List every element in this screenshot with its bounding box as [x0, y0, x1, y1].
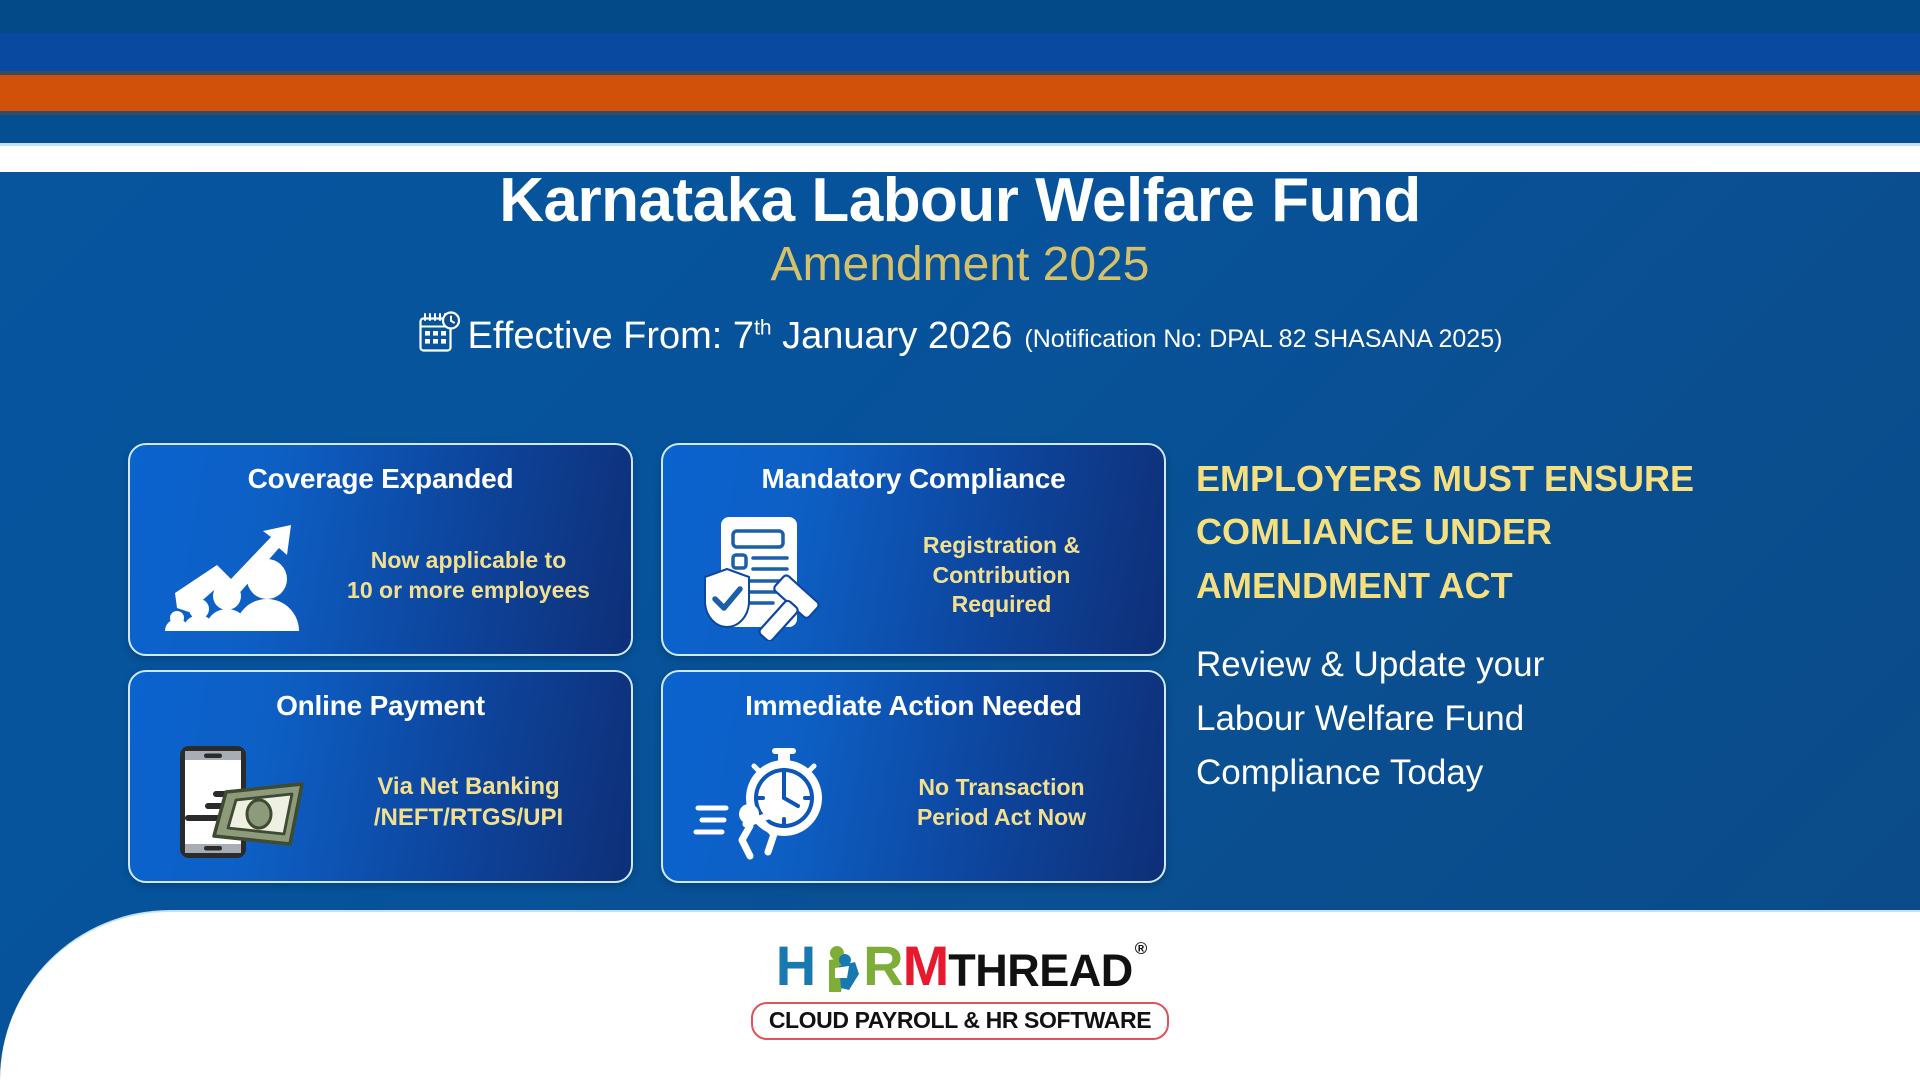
card-text-line-1: Registration &	[857, 531, 1146, 560]
card-text-line-2: Contribution	[857, 561, 1146, 590]
card-body: Now applicable to 10 or more employees	[144, 507, 617, 644]
card-text-line-2: 10 or more employees	[324, 576, 613, 605]
callout-block: EMPLOYERS MUST ENSURE COMLIANCE UNDER AM…	[1196, 452, 1856, 799]
effective-date-ordinal: th	[754, 316, 772, 339]
card-text-line-2: Period Act Now	[857, 803, 1146, 832]
card-text: Now applicable to 10 or more employees	[324, 546, 617, 605]
calendar-clock-icon	[418, 311, 464, 358]
card-body: No Transaction Period Act Now	[677, 734, 1150, 871]
brand-tagline: CLOUD PAYROLL & HR SOFTWARE	[751, 1002, 1169, 1040]
callout-subtext: Review & Update your Labour Welfare Fund…	[1196, 638, 1856, 800]
card-coverage-expanded[interactable]: Coverage Expanded	[128, 443, 633, 656]
notification-number: (Notification No: DPAL 82 SHASANA 2025)	[1024, 325, 1502, 354]
card-text-line-2: /NEFT/RTGS/UPI	[324, 803, 613, 834]
logo-word-thread: THREAD	[948, 948, 1133, 993]
growth-arrow-people-icon	[144, 513, 324, 638]
card-title: Mandatory Compliance	[663, 463, 1164, 495]
card-body: Via Net Banking /NEFT/RTGS/UPI	[144, 734, 617, 871]
header-block: Karnataka Labour Welfare Fund Amendment …	[0, 168, 1920, 358]
card-body: Registration & Contribution Required	[677, 507, 1150, 644]
card-title: Online Payment	[130, 690, 631, 722]
callout-headline-line-3: AMENDMENT ACT	[1196, 559, 1856, 612]
logo-letter-m: M	[903, 938, 949, 994]
infographic-canvas: Karnataka Labour Welfare Fund Amendment …	[0, 0, 1920, 1080]
card-text-line-1: Via Net Banking	[324, 772, 613, 803]
card-text-line-3: Required	[857, 590, 1146, 619]
effective-date-prefix: Effective From: 7	[468, 315, 755, 357]
callout-headline-line-1: EMPLOYERS MUST ENSURE	[1196, 452, 1856, 505]
callout-headline-line-2: COMLIANCE UNDER	[1196, 505, 1856, 558]
effective-date-rest: January 2026	[772, 315, 1013, 357]
page-subtitle: Amendment 2025	[0, 239, 1920, 292]
banner-stripe-dark-blue-bottom	[0, 115, 1920, 143]
effective-date-row: Effective From: 7th January 2026 (Notifi…	[0, 306, 1920, 358]
card-title: Immediate Action Needed	[663, 690, 1164, 722]
card-immediate-action-needed[interactable]: Immediate Action Needed	[661, 670, 1166, 883]
callout-subtext-line-2: Labour Welfare Fund	[1196, 692, 1856, 746]
card-text: No Transaction Period Act Now	[857, 773, 1150, 832]
banner-stripe-orange	[0, 75, 1920, 111]
callout-subtext-line-1: Review & Update your	[1196, 638, 1856, 692]
banner-stripe-bright-blue	[0, 33, 1920, 71]
document-gavel-shield-icon	[677, 511, 857, 641]
logo-letter-h: H	[776, 938, 815, 994]
registered-trademark-icon: ®	[1135, 940, 1147, 957]
card-online-payment[interactable]: Online Payment	[128, 670, 633, 883]
card-text-line-1: No Transaction	[857, 773, 1146, 802]
feature-card-grid: Coverage Expanded	[128, 443, 1188, 883]
card-title: Coverage Expanded	[130, 463, 631, 495]
brand-logo[interactable]: H R M THREAD ® CLOUD PAYROLL & HR SOFTWA…	[740, 938, 1180, 1040]
handshake-people-icon	[815, 940, 863, 996]
card-text: Registration & Contribution Required	[857, 531, 1150, 619]
brand-logo-wordmark: H R M THREAD ®	[740, 938, 1180, 994]
page-title: Karnataka Labour Welfare Fund	[0, 168, 1920, 235]
callout-headline: EMPLOYERS MUST ENSURE COMLIANCE UNDER AM…	[1196, 452, 1856, 612]
logo-letter-r: R	[863, 938, 902, 994]
card-text: Via Net Banking /NEFT/RTGS/UPI	[324, 772, 617, 833]
running-man-stopwatch-icon	[677, 740, 857, 865]
card-mandatory-compliance[interactable]: Mandatory Compliance	[661, 443, 1166, 656]
effective-date-text: Effective From: 7th January 2026	[468, 315, 1013, 358]
banner-stripe-dark-blue-top	[0, 0, 1920, 33]
mobile-cash-payment-icon	[144, 740, 324, 865]
callout-subtext-line-3: Compliance Today	[1196, 746, 1856, 800]
card-text-line-1: Now applicable to	[324, 546, 613, 575]
